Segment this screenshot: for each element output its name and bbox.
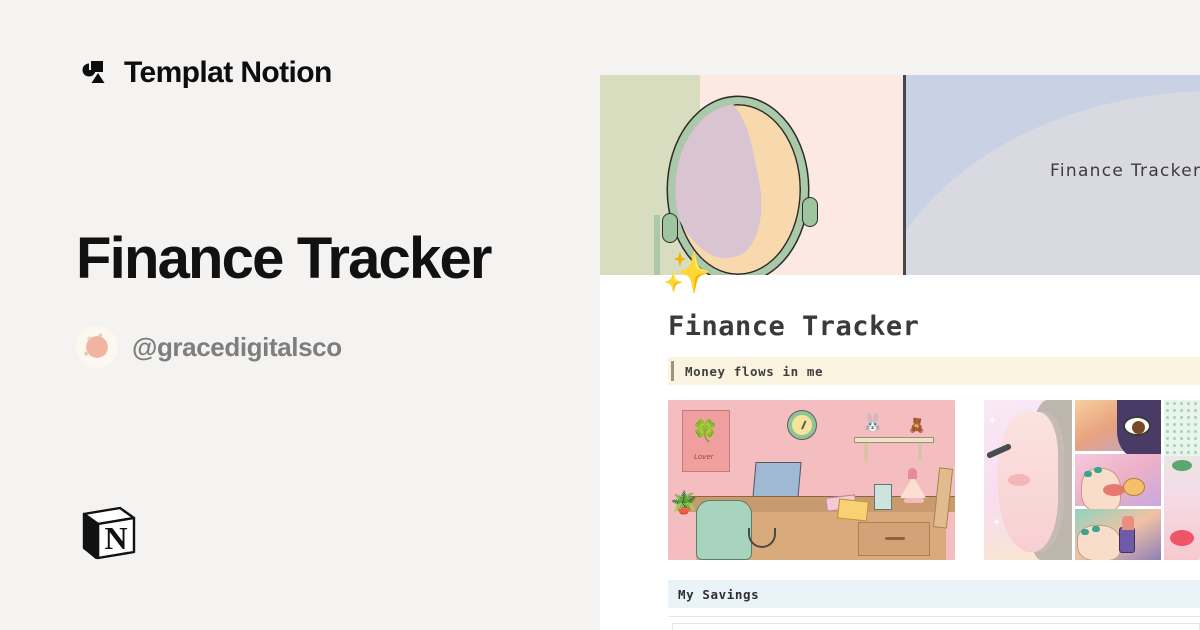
office-chair [696,500,752,560]
mirror-knob-right [802,197,818,227]
clover-poster: 🍀 Lover [682,410,730,472]
savings-table[interactable] [672,623,1200,630]
red-lips-icon [1170,530,1194,546]
pink-desk-workspace-illustration[interactable]: 🍀 Lover 🐰 🧸 🪴 [668,400,955,560]
blush-shape [1008,474,1030,486]
star-decor-icon: ✦ [988,416,997,427]
compact-powder-icon [1123,478,1145,496]
preview-banner: Finance Tracker [600,75,1200,275]
mirror-ring-icon [668,97,808,275]
nail-icon [1092,526,1100,532]
star-decor-icon: ✦ [992,518,1001,529]
savings-heading-text: My Savings [678,587,759,602]
brand-header: Templat Notion [76,56,332,90]
collage-panel-swatches [1164,400,1200,560]
nail-icon [1084,471,1092,477]
notion-letter: N [104,520,127,556]
document-title: Finance Tracker [668,311,919,342]
brand-name: Templat Notion [124,56,332,90]
mirror-reflection-shape [668,97,774,268]
preview-document: Finance Tracker Money flows in me 🍀 Love… [600,275,1200,630]
desk-lamp-base [904,498,924,503]
notion-cube-logo: N [76,500,140,564]
collage-grid: ✦ ✦ [984,400,1200,560]
hand-shape [1077,525,1121,560]
lips-shape [1103,484,1125,496]
collage-panel-eye [1075,400,1161,451]
lipstick-icon [1119,527,1135,553]
shelf-bracket-right [918,443,922,461]
poster-word: Lover [694,453,714,461]
callout-accent-bar [671,361,674,381]
laptop-screen [752,462,801,498]
wall-clock-icon [788,411,816,439]
table-divider [668,616,1200,617]
book-yellow [837,498,869,521]
template-preview[interactable]: Finance Tracker ✨ Finance Tracker Money … [600,75,1200,630]
eye-shape [1123,416,1151,436]
nail-icon [1081,529,1089,535]
lantern [874,484,892,510]
callout-block: Money flows in me [668,357,1200,385]
shapes-logo-icon [76,56,110,90]
callout-text: Money flows in me [685,364,823,379]
banner-divider-line [903,75,906,275]
media-row: 🍀 Lover 🐰 🧸 🪴 [668,400,1200,560]
collage-panel-lips [1075,454,1161,505]
banner-label: Finance Tracker [1050,161,1200,181]
sparkles-emoji: ✨ [662,253,712,293]
vanity-mirror-illustration [650,97,830,275]
page-title: Finance Tracker [76,228,491,291]
desk-drawer [858,522,930,556]
shelf-bracket-left [864,443,868,461]
collage-panel-stack [1075,400,1161,560]
dotted-texture [1164,400,1200,456]
collage-panel-lipstick [1075,509,1161,560]
avatar [76,326,118,368]
bear-plush-icon: 🧸 [908,418,925,432]
nail-icon [1094,467,1102,473]
collage-panel-profile: ✦ ✦ [984,400,1072,560]
green-swatch [1172,460,1192,471]
author-handle[interactable]: @gracedigitalsco [132,332,342,363]
four-leaf-clover-icon: 🍀 [692,421,718,442]
left-info-panel: Templat Notion Finance Tracker @gracedig… [0,0,600,630]
bunny-plush-icon: 🐰 [862,414,883,431]
savings-heading-block: My Savings [668,580,1200,608]
author-row[interactable]: @gracedigitalsco [76,326,342,368]
potted-plant-icon: 🪴 [670,492,697,514]
mirror-knob-left [662,213,678,243]
anime-makeup-collage-illustration[interactable]: ✦ ✦ [984,400,1200,560]
desk-lamp-shade [900,476,926,498]
desk-lamp-top [908,468,917,479]
